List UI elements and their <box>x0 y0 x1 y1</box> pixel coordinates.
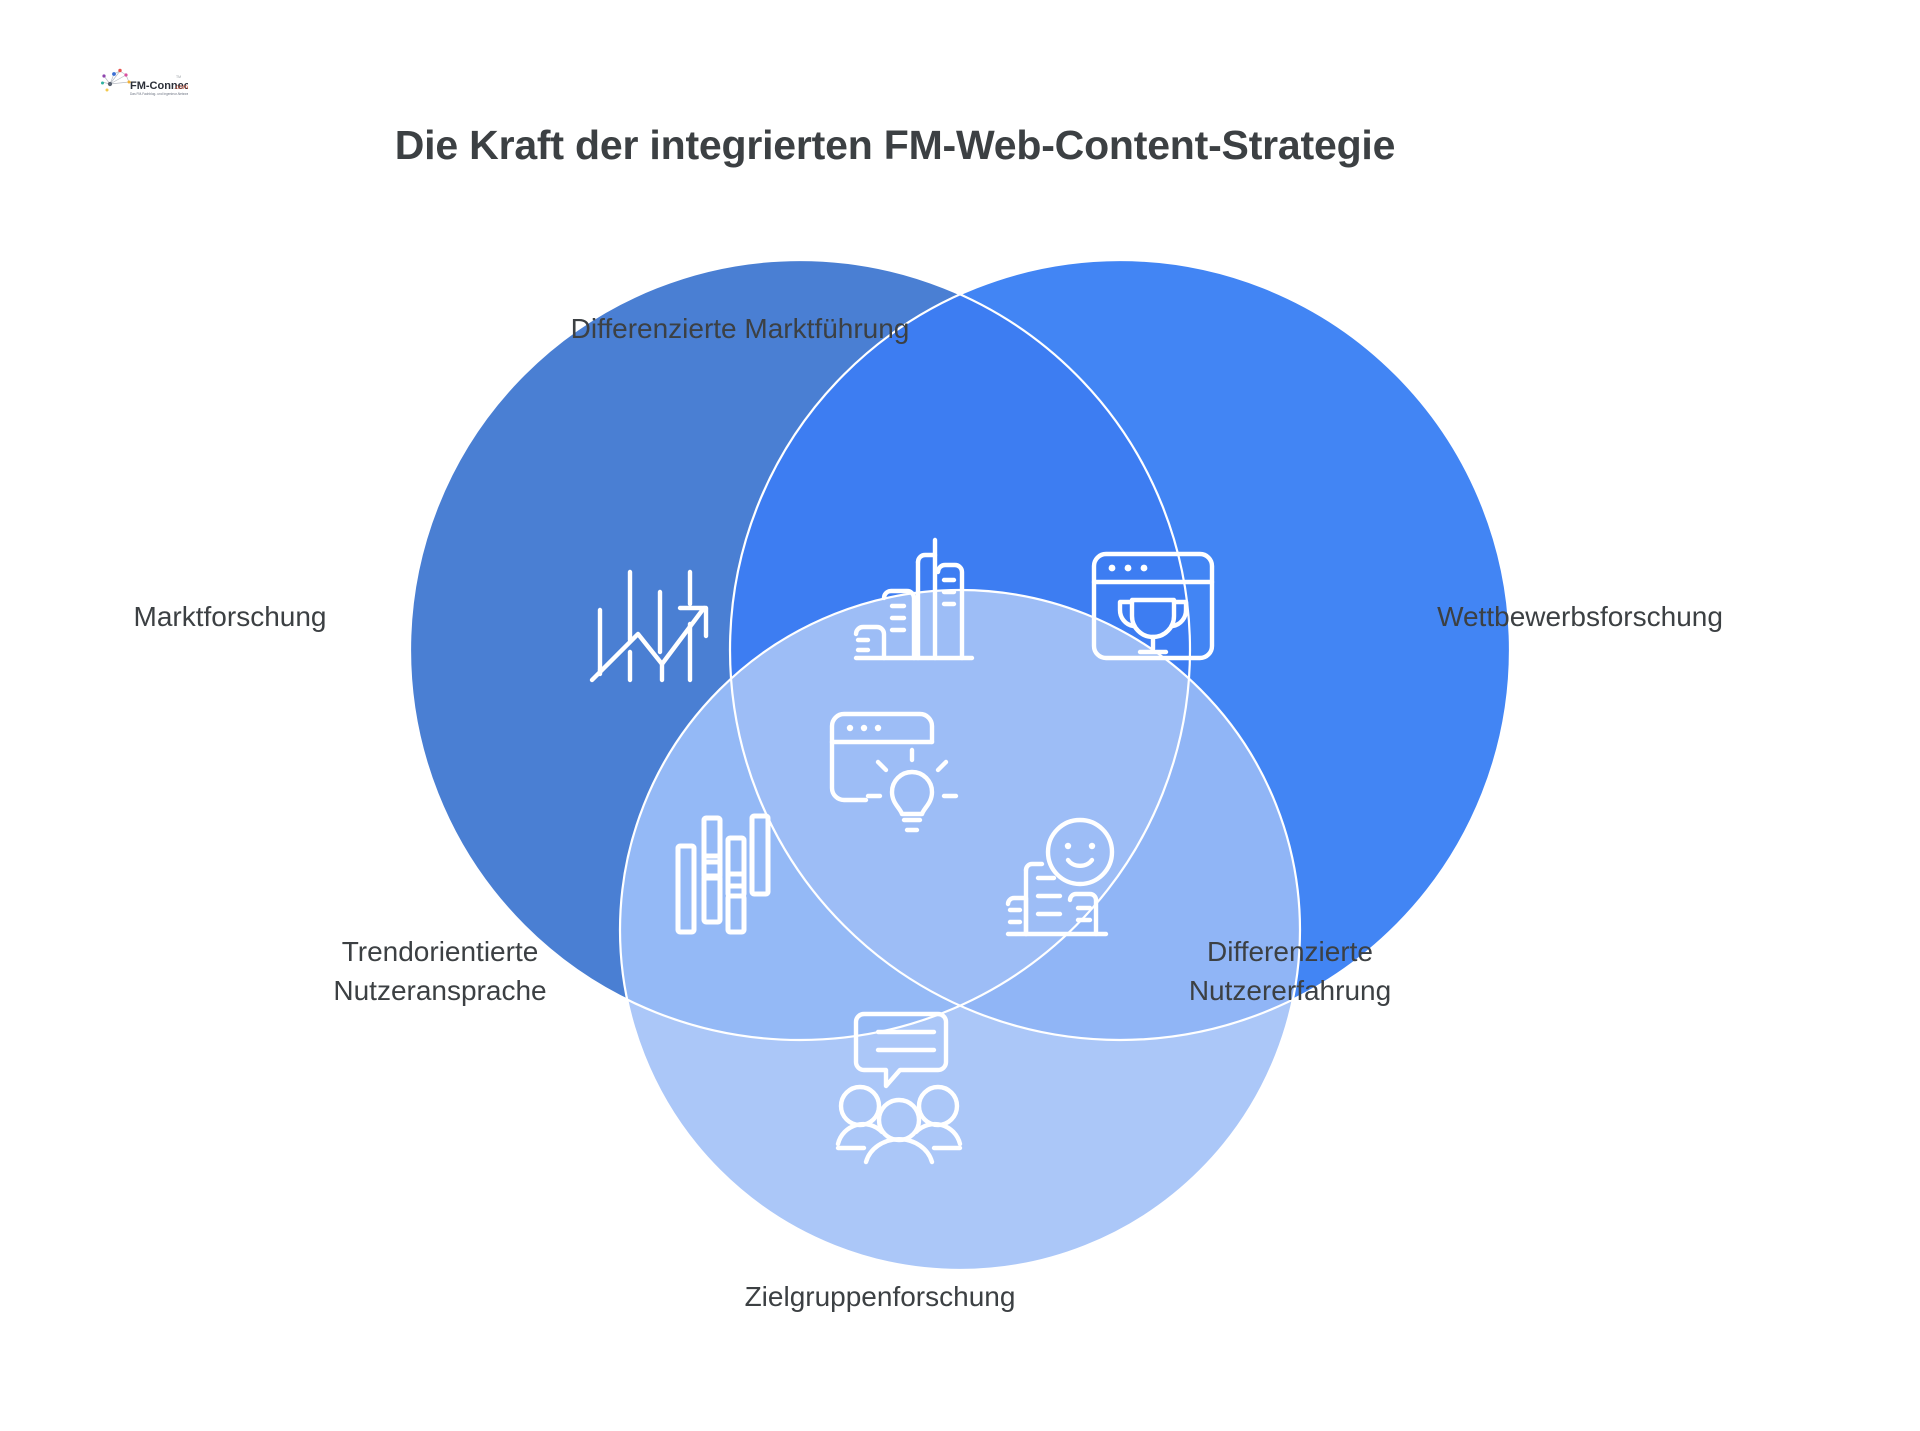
label-marktforschung: Marktforschung <box>60 598 400 637</box>
venn-diagram <box>0 0 1920 1431</box>
label-wettbewerbsforschung: Wettbewerbsforschung <box>1370 598 1790 637</box>
label-differenzierte-nutzererfahrung: Differenzierte Nutzererfahrung <box>1090 933 1490 1010</box>
label-differenzierte-marktfuehrung: Differenzierte Marktführung <box>520 310 960 349</box>
label-zielgruppenforschung: Zielgruppenforschung <box>600 1278 1160 1317</box>
label-trendorientierte-nutzeransprache: Trendorientierte Nutzeransprache <box>230 933 650 1010</box>
